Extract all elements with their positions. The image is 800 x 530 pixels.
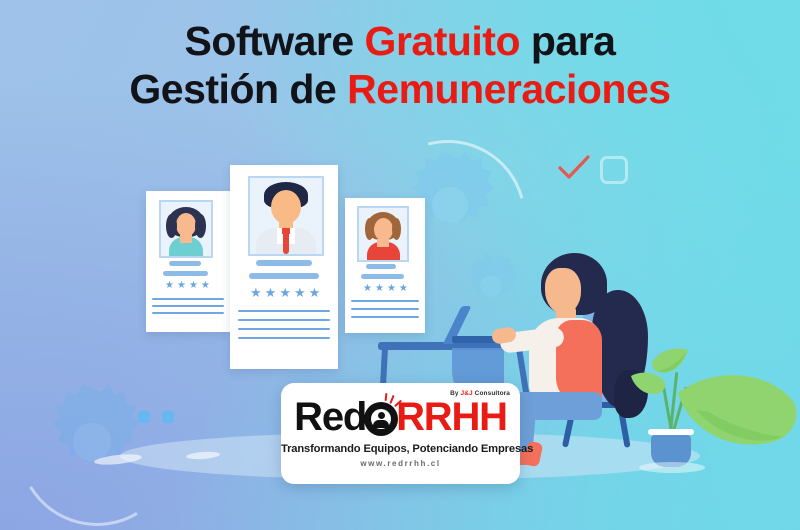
- promotional-banner: Software Gratuito para Gestión de Remune…: [0, 0, 800, 530]
- logo-card[interactable]: By J&J Consultora Red RRHH Transformando…: [281, 383, 520, 484]
- headline-word-para: para: [520, 18, 616, 64]
- rating-stars: ★ ★ ★ ★ ★: [250, 286, 320, 299]
- cv-card-right[interactable]: ★ ★ ★ ★: [345, 198, 425, 333]
- logo-website[interactable]: www.redrrhh.cl: [281, 459, 520, 468]
- cv-card-center[interactable]: ★ ★ ★ ★ ★: [230, 165, 338, 369]
- cv-text-line: [152, 305, 224, 307]
- star-icon: ★: [201, 281, 210, 291]
- cv-text-line: [351, 300, 419, 302]
- page-title: Software Gratuito para Gestión de Remune…: [0, 18, 800, 113]
- cv-text-line: [351, 316, 419, 318]
- logo-tagline: Transformando Equipos, Potenciando Empre…: [281, 443, 520, 455]
- decorative-square: [600, 156, 628, 184]
- cv-field: [366, 264, 396, 269]
- star-icon: ★: [165, 281, 174, 291]
- cv-text-line: [238, 319, 330, 321]
- rating-stars: ★ ★ ★ ★: [165, 281, 210, 291]
- headline-line-2: Gestión de Remuneraciones: [0, 66, 800, 114]
- check-icon: [558, 155, 590, 181]
- cv-text-line: [238, 337, 330, 339]
- headline-word-gestion: Gestión de: [129, 66, 347, 112]
- cv-field: [169, 261, 201, 266]
- star-icon: ★: [309, 286, 321, 299]
- person-in-circle-icon: [364, 402, 398, 436]
- plant-leaf-icon: [684, 390, 718, 418]
- star-icon: ★: [265, 286, 277, 299]
- rating-stars: ★ ★ ★ ★: [363, 284, 408, 294]
- cv-text-line: [238, 328, 330, 330]
- cv-text-line: [351, 308, 419, 310]
- headline-word-software: Software: [185, 18, 365, 64]
- star-icon: ★: [177, 281, 186, 291]
- cv-card-left[interactable]: ★ ★ ★ ★: [146, 191, 230, 332]
- star-icon: ★: [250, 286, 262, 299]
- cv-text-line: [238, 310, 330, 312]
- wordmark-red-text: Red: [294, 395, 366, 439]
- plant-leaf-icon: [630, 370, 666, 400]
- star-icon: ★: [189, 281, 198, 291]
- star-icon: ★: [399, 284, 408, 294]
- wordmark-rrhh: RRHH: [396, 395, 507, 439]
- cv-field: [256, 260, 312, 266]
- avatar: [357, 206, 409, 262]
- headline-word-remuneraciones: Remuneraciones: [347, 66, 670, 112]
- headline-line-1: Software Gratuito para: [0, 18, 800, 66]
- decorative-dot: [162, 411, 174, 423]
- decorative-dot: [138, 411, 150, 423]
- cv-text-line: [152, 312, 224, 314]
- logo-wordmark: Red RRHH: [281, 397, 520, 437]
- star-icon: ★: [375, 284, 384, 294]
- avatar: [159, 200, 213, 258]
- cv-text-line: [152, 298, 224, 300]
- star-icon: ★: [387, 284, 396, 294]
- cv-field: [163, 271, 208, 276]
- cv-field: [249, 273, 319, 279]
- headline-word-gratuito: Gratuito: [365, 18, 520, 64]
- cv-field: [361, 274, 404, 279]
- avatar: [248, 176, 324, 256]
- star-icon: ★: [279, 286, 291, 299]
- plant-shadow: [639, 462, 705, 473]
- star-icon: ★: [363, 284, 372, 294]
- star-icon: ★: [294, 286, 306, 299]
